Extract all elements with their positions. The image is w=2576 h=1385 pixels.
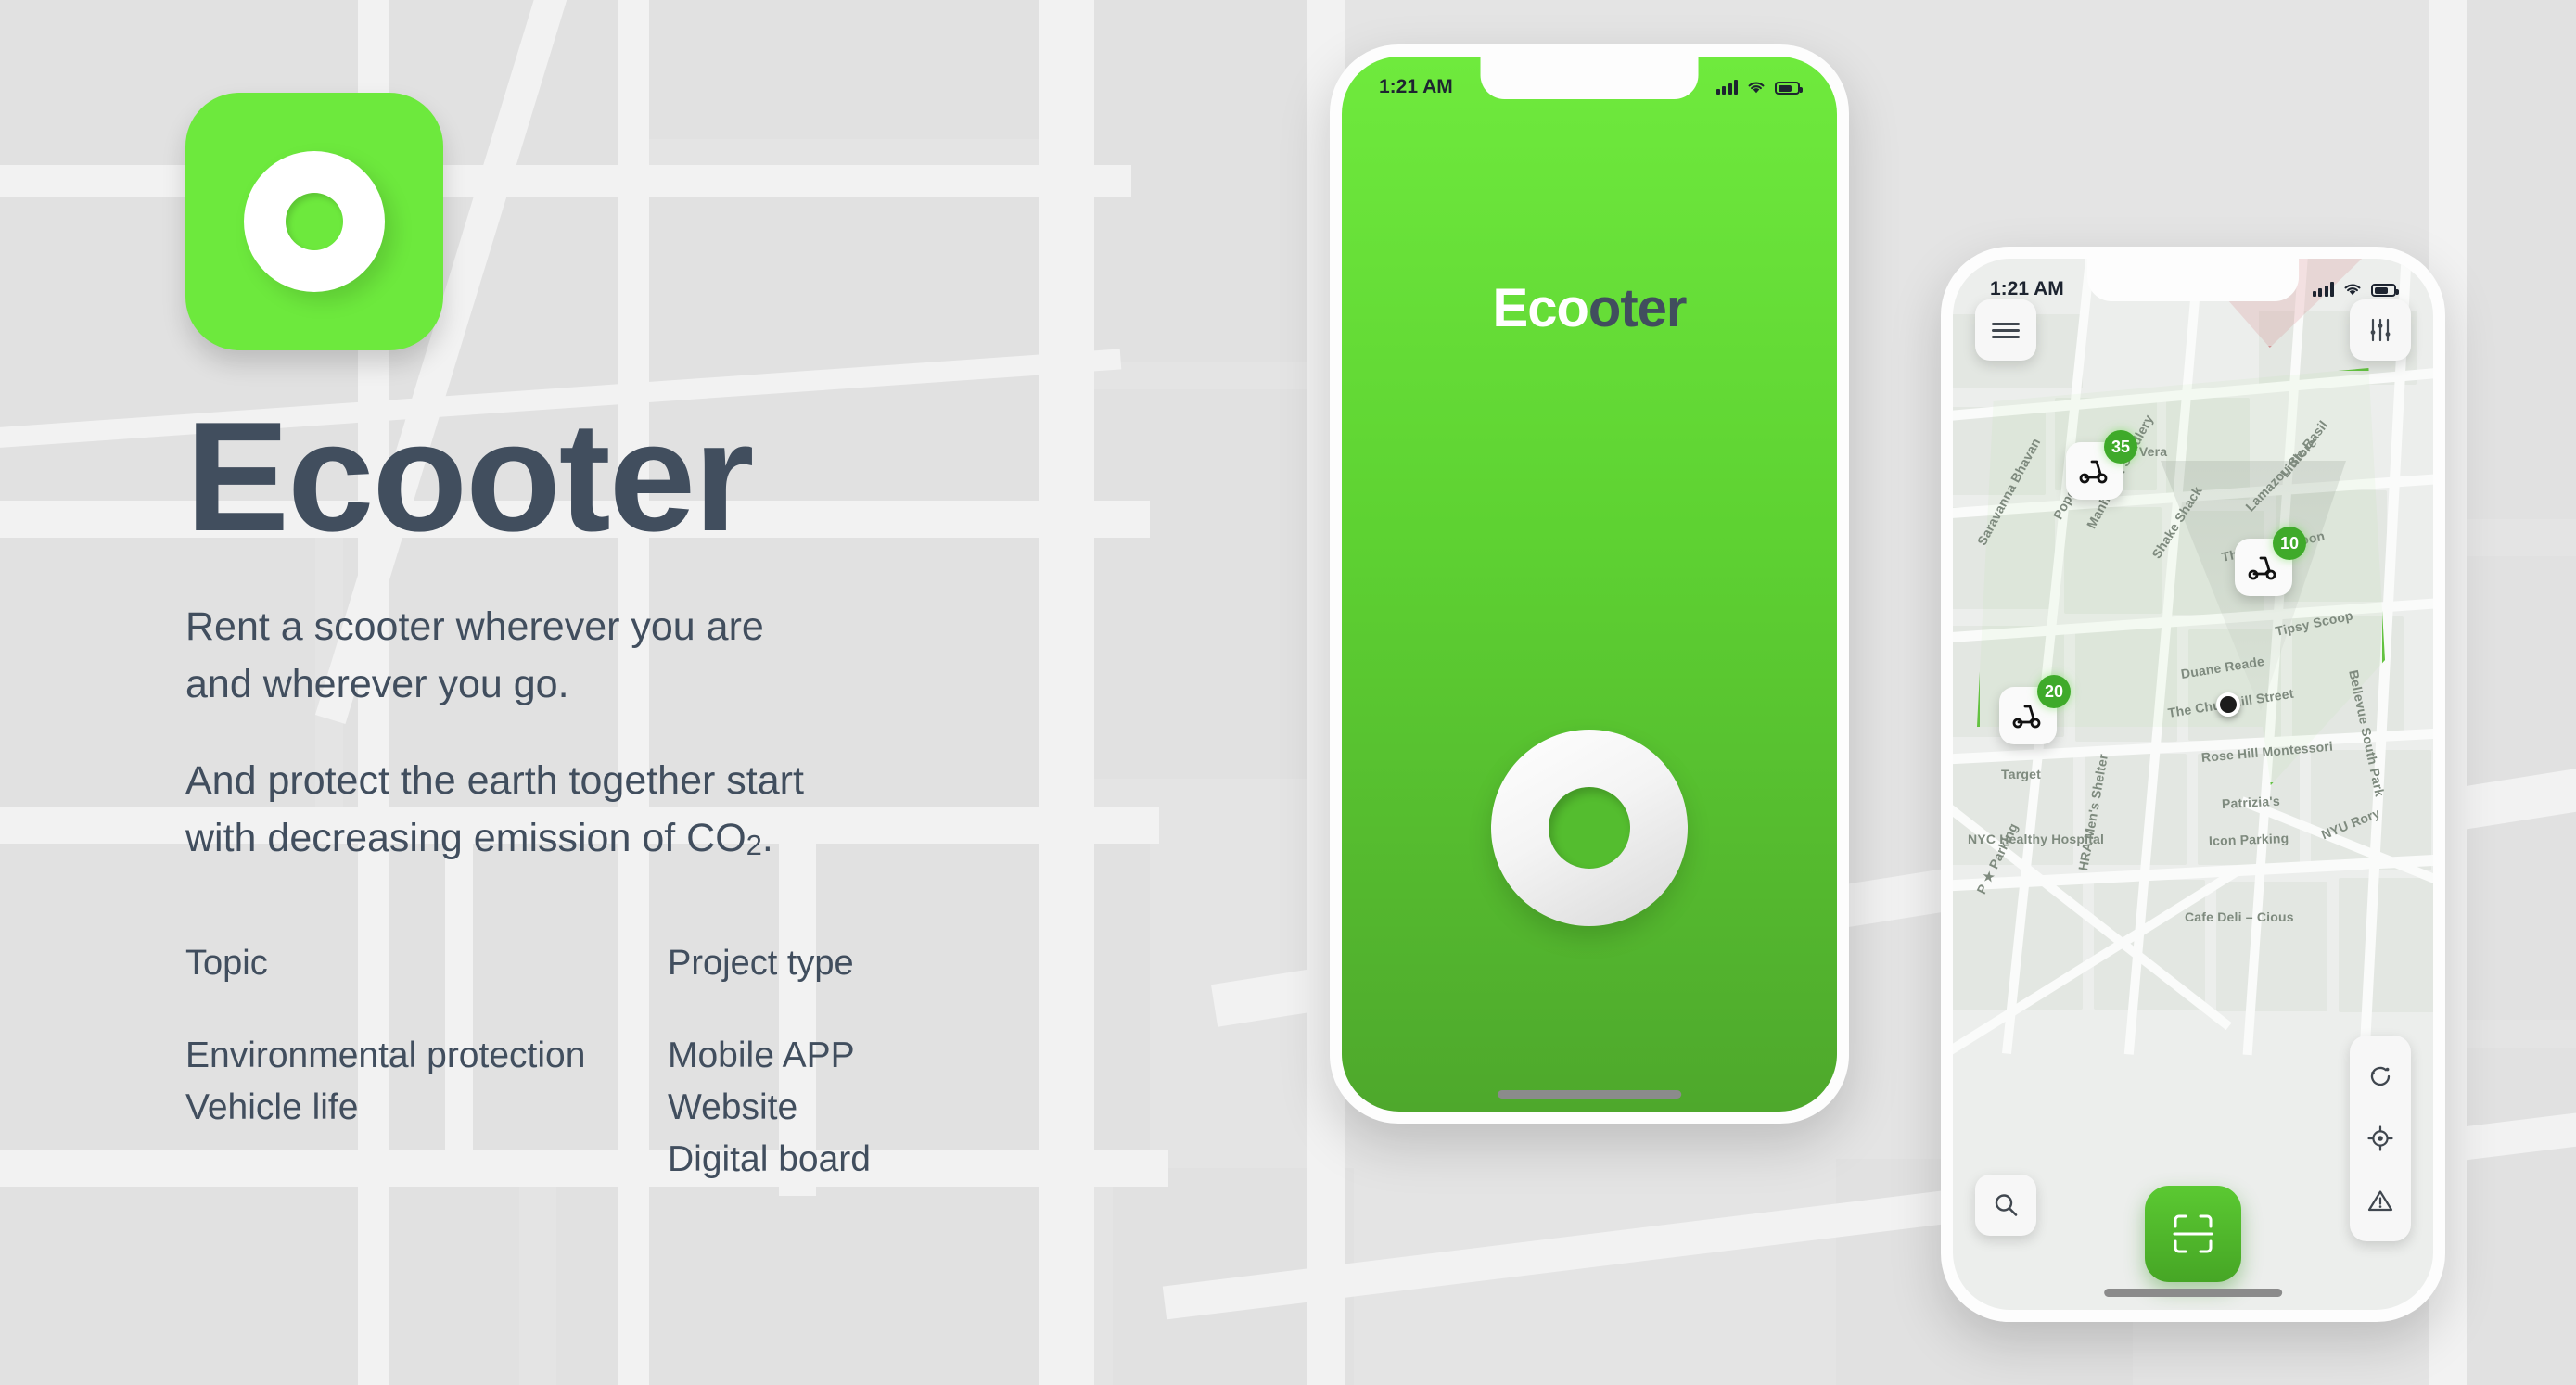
report-issue-button[interactable]: [2366, 1170, 2394, 1232]
meta-column-topic: Topic Environmental protection Vehicle l…: [185, 944, 668, 1186]
project-type-item: Digital board: [668, 1134, 871, 1186]
topic-list: Environmental protection Vehicle life: [185, 1030, 668, 1134]
project-type-item: Website: [668, 1082, 871, 1134]
ecooter-ring-logo-icon: [1491, 730, 1688, 926]
warning-triangle-icon: [2366, 1187, 2394, 1214]
qr-scan-icon: [2168, 1209, 2218, 1259]
cellular-signal-icon: [2313, 282, 2335, 297]
wifi-icon: [2342, 282, 2363, 297]
map-actions-stack: [2350, 1036, 2411, 1241]
scooter-count-badge: 35: [2104, 430, 2137, 464]
scooter-marker[interactable]: 35: [2066, 442, 2123, 500]
phone-mockup-map: La VeraLittle BasilPopeyesLamazou StoreM…: [1941, 247, 2445, 1322]
hero-paragraph-2-line-1: And protect the earth together start: [185, 758, 804, 803]
map-place-label: Cafe Deli – Cious: [2185, 909, 2294, 924]
hero-paragraph-1-line-2: and wherever you go.: [185, 662, 569, 706]
phone-mockup-splash: 1:21 AM Ecooter: [1330, 44, 1849, 1124]
splash-screen: 1:21 AM Ecooter: [1342, 57, 1837, 1112]
project-type-heading: Project type: [668, 944, 871, 984]
hero-paragraph-2-line-2-pre: with decreasing emission of CO: [185, 816, 746, 860]
phone-notch: [1481, 57, 1699, 99]
refresh-icon: [2366, 1062, 2394, 1090]
map-place-label: Icon Parking: [2209, 831, 2289, 848]
scooter-count-badge: 10: [2273, 527, 2306, 560]
status-bar-icons: [1716, 80, 1801, 95]
splash-wordmark-dark: oter: [1588, 278, 1687, 338]
hamburger-menu-icon: [1992, 319, 2020, 342]
hero-paragraph-1-line-1: Rent a scooter wherever you are: [185, 604, 764, 649]
battery-icon: [1775, 82, 1800, 95]
battery-icon: [2371, 284, 2396, 297]
splash-background: 1:21 AM Ecooter: [1342, 57, 1837, 1112]
splash-wordmark-light: Eco: [1493, 278, 1588, 338]
menu-button[interactable]: [1975, 299, 2036, 361]
home-indicator: [1498, 1090, 1681, 1099]
project-type-list: Mobile APP Website Digital board: [668, 1030, 871, 1186]
page-title: Ecooter: [185, 399, 1224, 554]
search-icon: [1991, 1190, 2021, 1220]
locate-me-button[interactable]: [2366, 1107, 2394, 1169]
wifi-icon: [1746, 80, 1766, 95]
ecooter-ring-logo-icon: [244, 151, 385, 292]
hero-paragraph-2-line-2-post: .: [762, 816, 773, 860]
hero-paragraph-1: Rent a scooter wherever you are and wher…: [185, 599, 1224, 714]
scooter-count-badge: 20: [2037, 675, 2071, 708]
map-screen: La VeraLittle BasilPopeyesLamazou StoreM…: [1953, 259, 2433, 1310]
status-bar-icons: [2313, 282, 2397, 297]
topic-item: Environmental protection: [185, 1030, 668, 1082]
phone-notch: [2087, 259, 2299, 301]
meta-section: Topic Environmental protection Vehicle l…: [185, 944, 1224, 1186]
hero-content: Ecooter Rent a scooter wherever you are …: [185, 93, 1224, 1186]
project-type-item: Mobile APP: [668, 1030, 871, 1082]
topic-item: Vehicle life: [185, 1082, 668, 1134]
hero-paragraph-2: And protect the earth together start wit…: [185, 753, 1224, 868]
cellular-signal-icon: [1716, 80, 1739, 95]
user-location-dot-icon: [2216, 692, 2240, 717]
splash-wordmark: Ecooter: [1342, 277, 1837, 339]
crosshair-locate-icon: [2366, 1125, 2394, 1152]
scooter-marker[interactable]: 10: [2235, 539, 2292, 596]
map-place-label: Patrizia's: [2222, 794, 2281, 811]
qr-scan-button[interactable]: [2145, 1186, 2241, 1282]
filter-button[interactable]: [2350, 299, 2411, 361]
co2-subscript: 2: [746, 829, 762, 861]
map-place-label: Target: [2001, 767, 2041, 781]
home-indicator: [2104, 1289, 2282, 1297]
scooter-marker[interactable]: 20: [1999, 687, 2057, 744]
sliders-filter-icon: [2365, 314, 2396, 346]
meta-column-project-type: Project type Mobile APP Website Digital …: [668, 944, 871, 1186]
app-logo-tile: [185, 93, 443, 350]
refresh-button[interactable]: [2366, 1045, 2394, 1107]
map-canvas[interactable]: La VeraLittle BasilPopeyesLamazou StoreM…: [1953, 259, 2433, 1310]
search-button[interactable]: [1975, 1175, 2036, 1236]
topic-heading: Topic: [185, 944, 668, 984]
status-bar-time: 1:21 AM: [1990, 278, 2064, 300]
status-bar-time: 1:21 AM: [1379, 76, 1453, 98]
